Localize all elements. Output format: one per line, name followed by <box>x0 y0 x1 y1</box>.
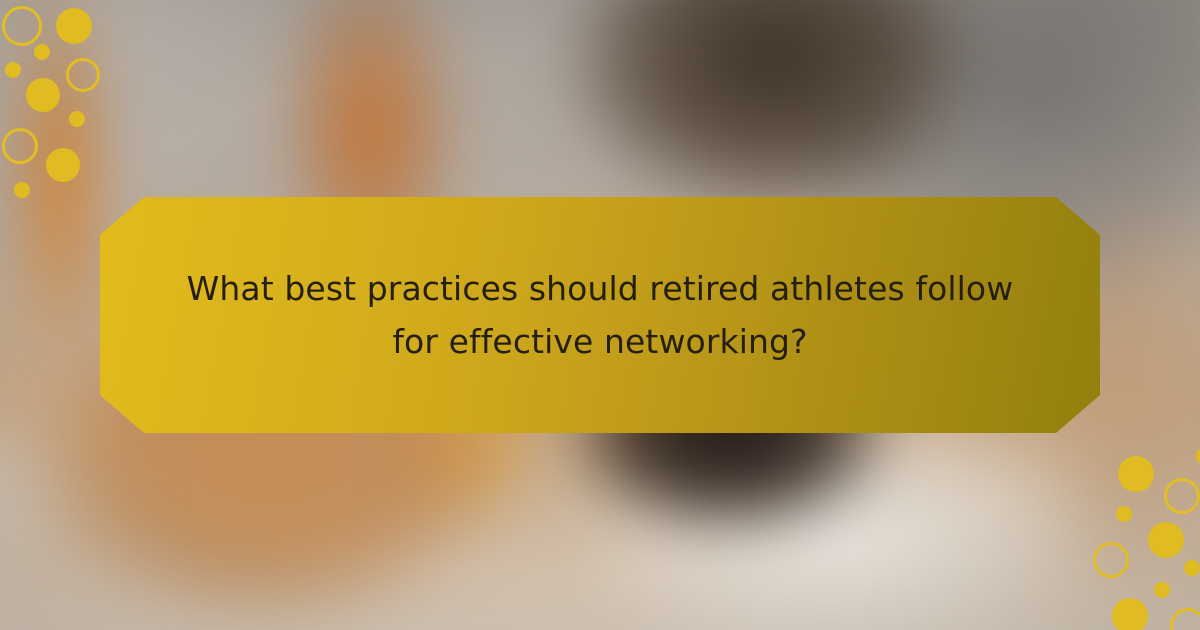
question-text: What best practices should retired athle… <box>170 262 1030 369</box>
question-card: What best practices should retired athle… <box>0 0 1200 630</box>
question-banner: What best practices should retired athle… <box>100 197 1100 433</box>
